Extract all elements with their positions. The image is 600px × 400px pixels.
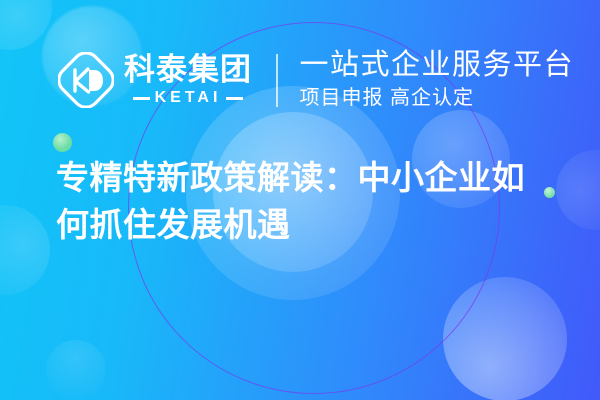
brand-name-cn: 科泰集团 [124,54,252,85]
brand-wordmark: 科泰集团 KETAI [124,54,252,106]
decorative-circle-left-mid [0,205,50,295]
decorative-circle-right-edge [556,150,600,230]
promotional-banner: 科泰集团 KETAI 一站式企业服务平台 项目申报 高企认定 专精特新政策解读：… [0,0,600,400]
kd-monogram-icon [58,52,114,108]
banner-header: 科泰集团 KETAI 一站式企业服务平台 项目申报 高企认定 [0,40,600,120]
brand-name-en-row: KETAI [133,90,244,106]
tagline-block: 一站式企业服务平台 项目申报 高企认定 [300,49,575,111]
rule-left-icon [133,97,150,100]
header-divider [276,54,278,107]
brand-name-en: KETAI [155,90,222,106]
tagline-primary: 一站式企业服务平台 [300,49,575,81]
tagline-secondary: 项目申报 高企认定 [300,86,575,111]
decorative-circle-bottom-mid [46,340,106,400]
decorative-circle-bottom-right [443,277,567,400]
rule-right-icon [226,97,243,100]
page-title: 专精特新政策解读：中小企业如何抓住发展机遇 [56,155,556,249]
decorative-dot-green-large [53,133,72,152]
brand-logo: 科泰集团 KETAI [58,52,252,108]
